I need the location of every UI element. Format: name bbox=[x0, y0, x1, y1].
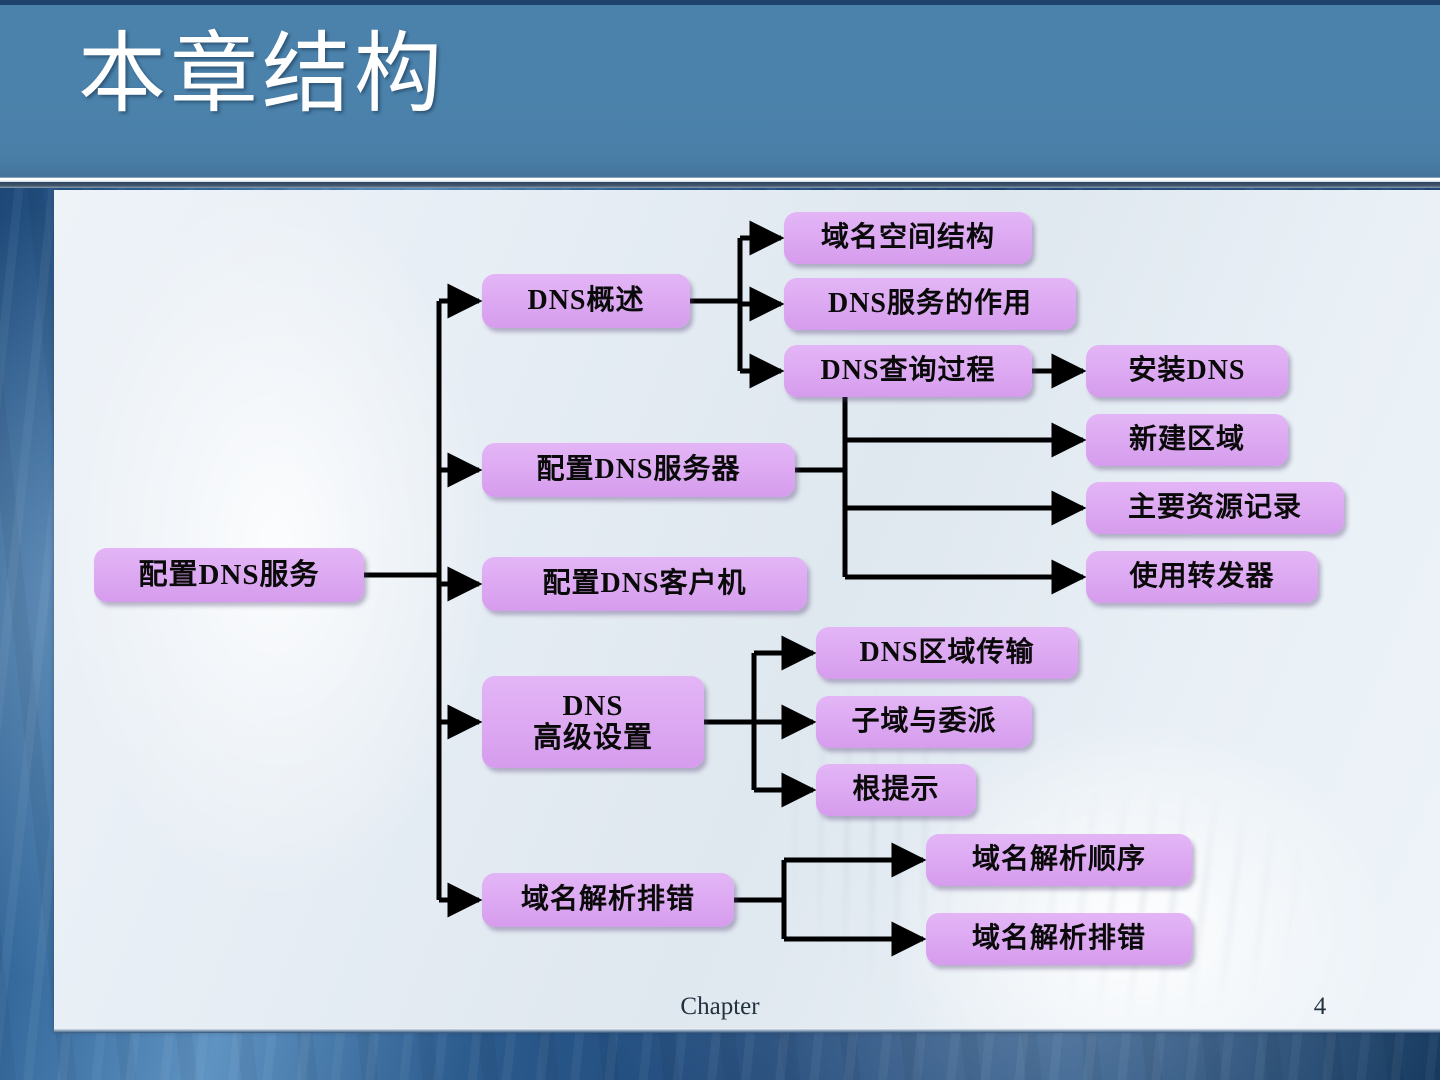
footer-label: Chapter bbox=[0, 993, 1440, 1021]
page-title: 本章结构 bbox=[78, 30, 446, 122]
slide: 本章结构 配置DNS服务DNS概述域名空间结构DNS服务的作用DNS查询过程配置… bbox=[0, 0, 1440, 1080]
title-band-topline bbox=[0, 0, 1440, 5]
node-dns-overview-child-1: DNS服务的作用 bbox=[784, 278, 1076, 330]
node-configure-dns-client: 配置DNS客户机 bbox=[482, 557, 807, 611]
node-dns-overview-child-2: DNS查询过程 bbox=[784, 345, 1032, 397]
node-dns-advanced-child-0: DNS区域传输 bbox=[816, 627, 1078, 679]
node-name-resolution-troubleshooting-child-1: 域名解析排错 bbox=[926, 913, 1192, 965]
node-configure-dns-server-child-2: 主要资源记录 bbox=[1086, 482, 1344, 534]
diagram-nodes: 配置DNS服务DNS概述域名空间结构DNS服务的作用DNS查询过程配置DNS服务… bbox=[54, 190, 1440, 1030]
node-dns-overview: DNS概述 bbox=[482, 274, 690, 328]
node-configure-dns-server-child-3: 使用转发器 bbox=[1086, 551, 1318, 603]
title-band-underline-shadow bbox=[0, 182, 1440, 188]
node-dns-advanced-child-1: 子域与委派 bbox=[816, 696, 1032, 748]
content-panel: 配置DNS服务DNS概述域名空间结构DNS服务的作用DNS查询过程配置DNS服务… bbox=[54, 190, 1440, 1030]
content-panel-bottom-edge bbox=[54, 1028, 1440, 1033]
node-dns-advanced-child-2: 根提示 bbox=[816, 764, 976, 816]
node-dns-overview-child-0: 域名空间结构 bbox=[784, 212, 1032, 264]
node-name-resolution-troubleshooting: 域名解析排错 bbox=[482, 873, 734, 927]
node-root: 配置DNS服务 bbox=[94, 548, 364, 602]
node-name-resolution-troubleshooting-child-0: 域名解析顺序 bbox=[926, 834, 1192, 886]
node-configure-dns-server-child-1: 新建区域 bbox=[1086, 414, 1288, 466]
node-dns-advanced: DNS 高级设置 bbox=[482, 676, 704, 768]
node-configure-dns-server-child-0: 安装DNS bbox=[1086, 345, 1288, 397]
node-configure-dns-server: 配置DNS服务器 bbox=[482, 443, 795, 497]
footer-page-number: 4 bbox=[1290, 993, 1350, 1021]
